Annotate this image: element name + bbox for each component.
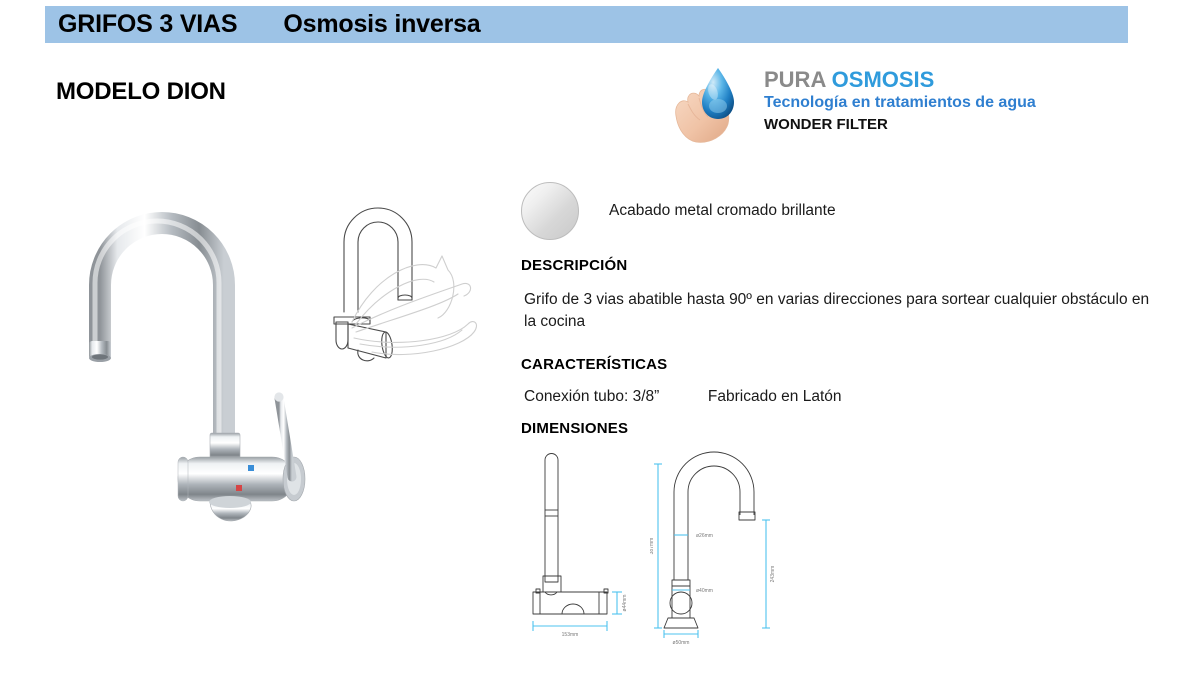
side-body-height-label: ø44mm	[622, 595, 628, 612]
product-spec-sheet: GRIFOS 3 VIAS Osmosis inversa MODELO DIO…	[0, 0, 1200, 676]
product-photo-chrome-faucet	[60, 165, 330, 535]
description-heading: DESCRIPCIÓN	[521, 257, 627, 274]
tube-diameter-label: ø26mm	[696, 533, 713, 539]
finish-label: Acabado metal cromado brillante	[609, 202, 836, 220]
chrome-finish-swatch	[521, 182, 579, 240]
model-title: MODELO DION	[56, 78, 226, 106]
features-heading: CARACTERÍSTICAS	[521, 356, 667, 373]
feature-material: Fabricado en Latón	[708, 388, 842, 405]
logo-brand-part2: OSMOSIS	[832, 67, 935, 92]
dimension-drawings: 153mm ø44mm	[500, 440, 820, 650]
dimensions-heading: DIMENSIONES	[521, 420, 628, 437]
total-height-label: 387mm	[650, 538, 655, 555]
spout-height-label: 243mm	[770, 566, 776, 583]
side-view-technical-drawing: 153mm ø44mm	[500, 440, 660, 650]
feature-connection: Conexión tubo: 3/8”	[524, 388, 659, 405]
logo-tagline: Tecnología en tratamientos de agua	[764, 93, 1036, 113]
line-art-swivel-sketch	[312, 172, 497, 367]
logo-brand: PURA OSMOSIS	[764, 68, 1036, 91]
description-body: Grifo de 3 vias abatible hasta 90º en va…	[524, 289, 1164, 334]
brand-logo: PURA OSMOSIS Tecnología en tratamientos …	[672, 58, 1092, 153]
finish-row: Acabado metal cromado brillante	[521, 182, 836, 240]
page-title: GRIFOS 3 VIAS	[58, 10, 237, 39]
logo-text-block: PURA OSMOSIS Tecnología en tratamientos …	[764, 68, 1036, 135]
header-band: GRIFOS 3 VIAS Osmosis inversa	[45, 6, 1128, 43]
side-width-label: 153mm	[562, 632, 579, 638]
front-view-technical-drawing: ø26mm ø40mm ø50mm 387mm 243mm	[650, 440, 820, 650]
base-diameter-label: ø50mm	[673, 640, 690, 646]
hand-holding-water-drop-icon	[672, 60, 764, 148]
body-diameter-label: ø40mm	[696, 588, 713, 594]
features-row: Conexión tubo: 3/8” Fabricado en Latón	[524, 388, 842, 406]
logo-brand-part1: PURA	[764, 67, 826, 92]
logo-subbrand: WONDER FILTER	[764, 116, 1036, 135]
page-subtitle: Osmosis inversa	[283, 10, 480, 39]
